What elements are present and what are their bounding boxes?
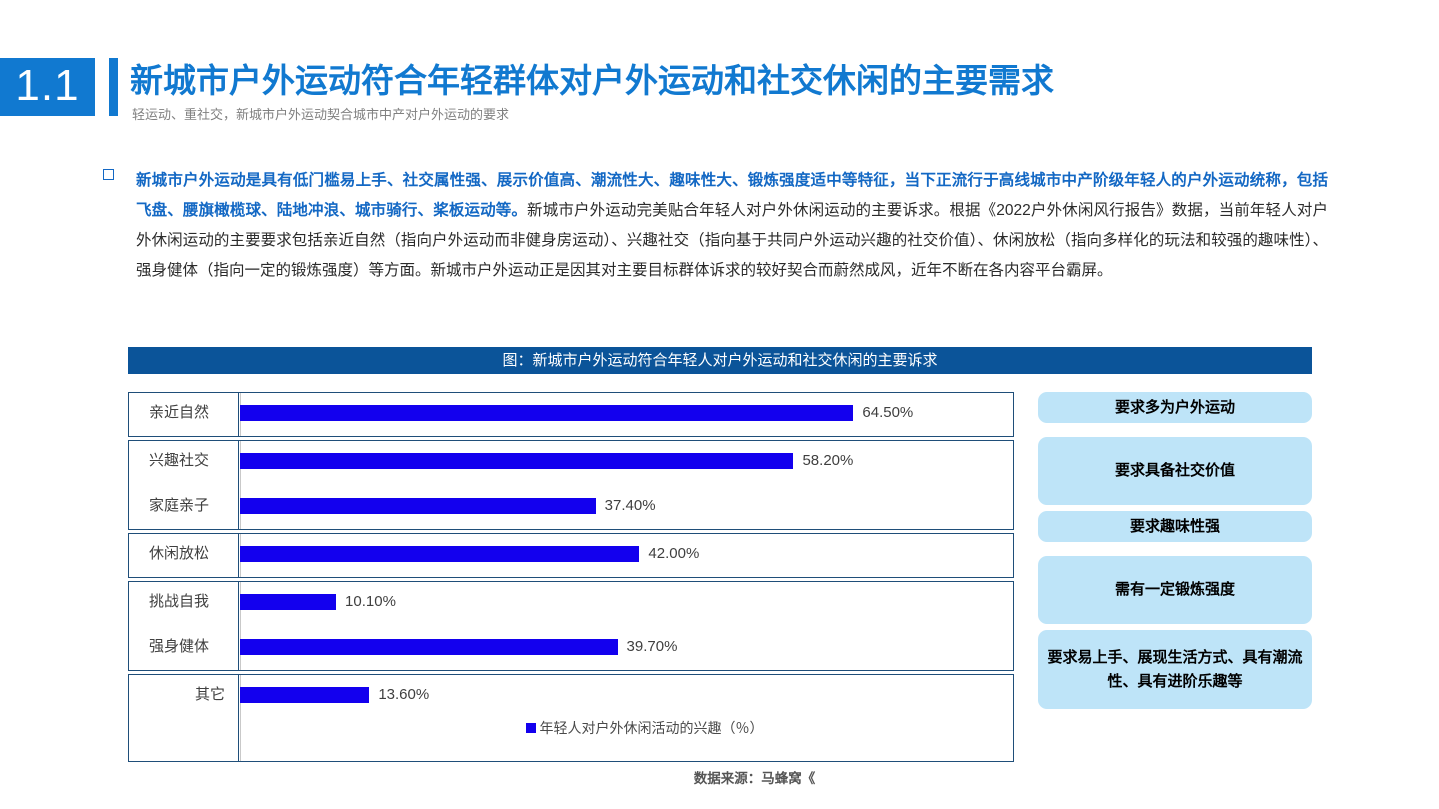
chart-bar-value: 39.70%	[627, 636, 678, 658]
chart-title-bar: 图：新城市户外运动符合年轻人对户外运动和社交休闲的主要诉求	[128, 347, 1312, 374]
chart-legend: 年轻人对户外休闲活动的兴趣（％）	[0, 718, 1439, 738]
chart-bar-row: 13.60%	[240, 684, 1014, 706]
chart-bar-row: 39.70%	[240, 636, 1014, 658]
chart-bar-row: 58.20%	[240, 450, 1014, 472]
chart-bar-row: 10.10%	[240, 591, 1014, 613]
category-label: 兴趣社交	[129, 450, 229, 472]
title-block: 新城市户外运动符合年轻群体对户外运动和社交休闲的主要需求 轻运动、重社交，新城市…	[130, 58, 1054, 116]
chart-bar-row: 42.00%	[240, 543, 1014, 565]
chart-bar	[240, 687, 369, 703]
chart-bar	[240, 498, 596, 514]
callout-box-1: 要求多为户外运动	[1038, 392, 1312, 423]
callout-box-3: 要求趣味性强	[1038, 511, 1312, 542]
chart-bar-value: 64.50%	[862, 402, 913, 424]
title-accent-bar	[109, 58, 118, 116]
chart-bar	[240, 546, 639, 562]
callout-box-2: 要求具备社交价值	[1038, 437, 1312, 505]
category-label: 其它	[129, 684, 225, 706]
hollow-square-bullet-icon	[103, 169, 114, 180]
chart-bar	[240, 594, 336, 610]
category-label: 挑战自我	[129, 591, 229, 613]
page-header: 1.1 新城市户外运动符合年轻群体对户外运动和社交休闲的主要需求 轻运动、重社交…	[0, 58, 1054, 116]
category-label: 强身健体	[129, 636, 229, 658]
chart-bar	[240, 639, 618, 655]
legend-swatch-icon	[526, 723, 536, 733]
source-text: 数据来源：马蜂窝《	[694, 767, 816, 787]
chart-bar-value: 10.10%	[345, 591, 396, 613]
paragraph-text: 新城市户外运动是具有低门槛易上手、社交属性强、展示价值高、潮流性大、趣味性大、锻…	[136, 166, 1328, 286]
chart-group-4: 挑战自我10.10%强身健体39.70%	[128, 581, 1014, 671]
callout-box-5: 要求易上手、展现生活方式、具有潮流性、具有进阶乐趣等	[1038, 630, 1312, 709]
body-paragraph: 新城市户外运动是具有低门槛易上手、社交属性强、展示价值高、潮流性大、趣味性大、锻…	[103, 166, 1328, 286]
section-number-badge: 1.1	[0, 58, 95, 116]
category-label: 休闲放松	[129, 543, 229, 565]
chart-source: 数据来源：马蜂窝《	[0, 767, 1439, 787]
category-label: 亲近自然	[129, 402, 229, 424]
bar-chart: 亲近自然64.50%兴趣社交58.20%家庭亲子37.40%休闲放松42.00%…	[128, 392, 1016, 708]
chart-group-3: 休闲放松42.00%	[128, 533, 1014, 578]
chart-bar-value: 37.40%	[605, 495, 656, 517]
chart-bar	[240, 405, 853, 421]
chart-group-2: 兴趣社交58.20%家庭亲子37.40%	[128, 440, 1014, 530]
category-label: 家庭亲子	[129, 495, 229, 517]
chart-plot-area: 亲近自然64.50%兴趣社交58.20%家庭亲子37.40%休闲放松42.00%…	[128, 392, 1016, 708]
page-subtitle: 轻运动、重社交，新城市户外运动契合城市中产对户外运动的要求	[132, 104, 509, 123]
legend-label: 年轻人对户外休闲活动的兴趣（％）	[540, 720, 764, 736]
callout-box-4: 需有一定锻炼强度	[1038, 556, 1312, 624]
chart-bar-value: 58.20%	[802, 450, 853, 472]
chart-bar	[240, 453, 793, 469]
chart-group-1: 亲近自然64.50%	[128, 392, 1014, 437]
legend-item: 年轻人对户外休闲活动的兴趣（％）	[526, 718, 764, 738]
chart-bar-value: 13.60%	[378, 684, 429, 706]
page-title: 新城市户外运动符合年轻群体对户外运动和社交休闲的主要需求	[130, 58, 1054, 104]
chart-bar-row: 64.50%	[240, 402, 1014, 424]
chart-bar-value: 42.00%	[648, 543, 699, 565]
chart-bar-row: 37.40%	[240, 495, 1014, 517]
